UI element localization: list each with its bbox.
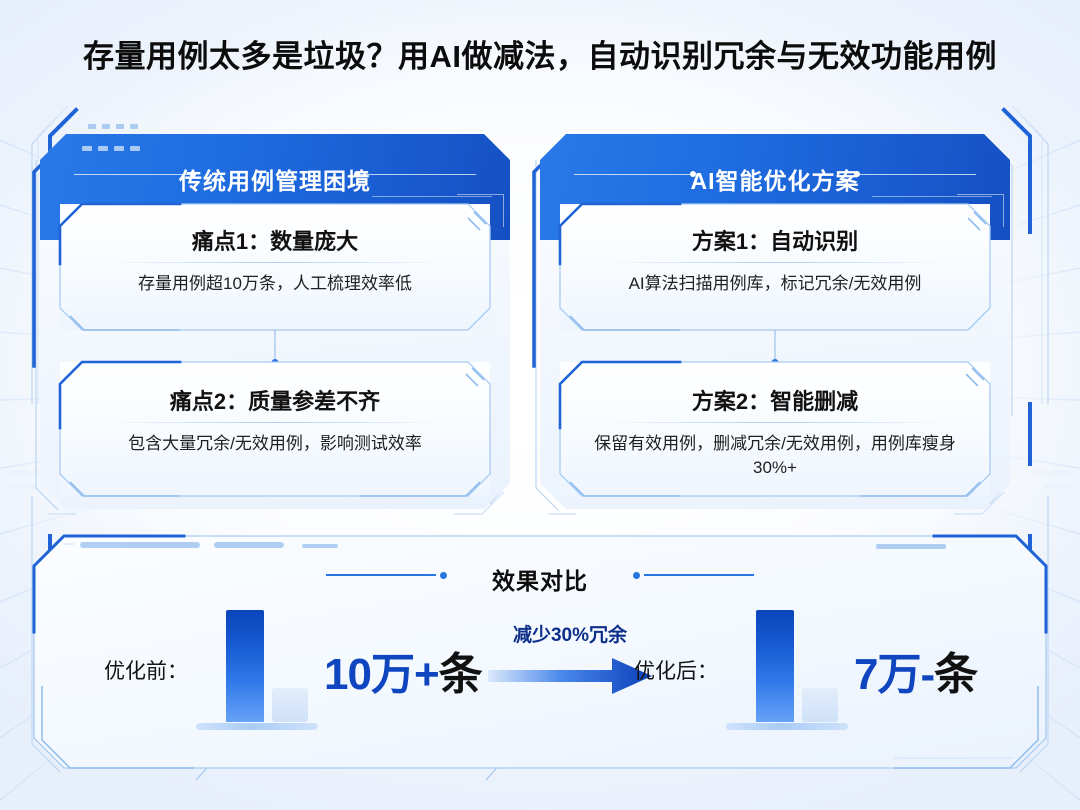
panel-title-problems: 传统用例管理困境 [40,162,510,196]
card-heading: 痛点1：数量庞大 [60,224,490,256]
card-border [60,362,490,496]
panel-title-solutions: AI智能优化方案 [540,162,1010,196]
card-connector-line [775,330,776,362]
stat-before-unit: 条 [439,650,482,699]
bar-group-before [196,600,318,740]
card-subtext: 存量用例超10万条，人工梳理效率低 [74,272,476,296]
card-divider [102,262,448,263]
result-title: 效果对比 [34,562,1046,596]
result-title-line-right [644,574,754,576]
panel-solutions: AI智能优化方案 方案1：自动识别 AI算法扫描用例库， [534,116,1016,522]
card-border [560,204,990,330]
bar-baseline [196,723,318,730]
stat-after-value: 7万-条 [854,638,977,702]
card-subtext: 保留有效用例，删减冗余/无效用例，用例库瘦身30%+ [574,432,976,480]
stat-before-value: 10万+条 [324,638,482,702]
result-title-line-left [326,574,436,576]
card-divider [602,422,948,423]
result-comparison-panel: 效果对比 优化前： 10万+条 减少30%冗余 [34,536,1046,768]
stat-before: 优化前： 10万+条 [104,600,482,740]
reduction-arrow-block: 减少30%冗余 [486,620,654,706]
arrow-icon [486,654,654,698]
card-heading: 痛点2：质量参差不齐 [60,384,490,416]
page-title: 存量用例太多是垃圾？用AI做减法，自动识别冗余与无效功能用例 [0,38,1080,77]
card-heading: 方案2：智能删减 [560,384,990,416]
bar-after-main [756,610,794,722]
bar-before-secondary [272,688,308,722]
result-title-dot-right [633,572,640,579]
stat-before-label: 优化前： [104,655,188,685]
stat-after-unit: 条 [934,650,977,699]
card-divider [602,262,948,263]
bar-after-secondary [802,688,838,722]
bar-before-main [226,610,264,722]
stat-after-number: 7万- [854,650,934,699]
card-heading: 方案1：自动识别 [560,224,990,256]
card-subtext: AI算法扫描用例库，标记冗余/无效用例 [574,272,976,296]
bar-group-after [726,600,848,740]
panels-row: 传统用例管理困境 痛点1：数量庞大 存量用例超10万条， [34,116,1046,522]
reduction-arrow-label: 减少30%冗余 [486,620,654,647]
card-connector-line [275,330,276,362]
panel-problems: 传统用例管理困境 痛点1：数量庞大 存量用例超10万条， [34,116,516,522]
card-pain-point-2[interactable]: 痛点2：质量参差不齐 包含大量冗余/无效用例，影响测试效率 [60,362,490,496]
stat-after-label: 优化后： [634,655,718,685]
card-border [60,204,490,330]
card-subtext: 包含大量冗余/无效用例，影响测试效率 [74,432,476,456]
card-solution-1[interactable]: 方案1：自动识别 AI算法扫描用例库，标记冗余/无效用例 [560,204,990,330]
stat-before-number: 10万+ [324,650,439,699]
card-solution-2[interactable]: 方案2：智能删减 保留有效用例，删减冗余/无效用例，用例库瘦身30%+ [560,362,990,496]
card-pain-point-1[interactable]: 痛点1：数量庞大 存量用例超10万条，人工梳理效率低 [60,204,490,330]
result-title-dot-left [440,572,447,579]
bar-baseline [726,723,848,730]
stat-after: 优化后： 7万-条 [634,600,977,740]
card-divider [102,422,448,423]
